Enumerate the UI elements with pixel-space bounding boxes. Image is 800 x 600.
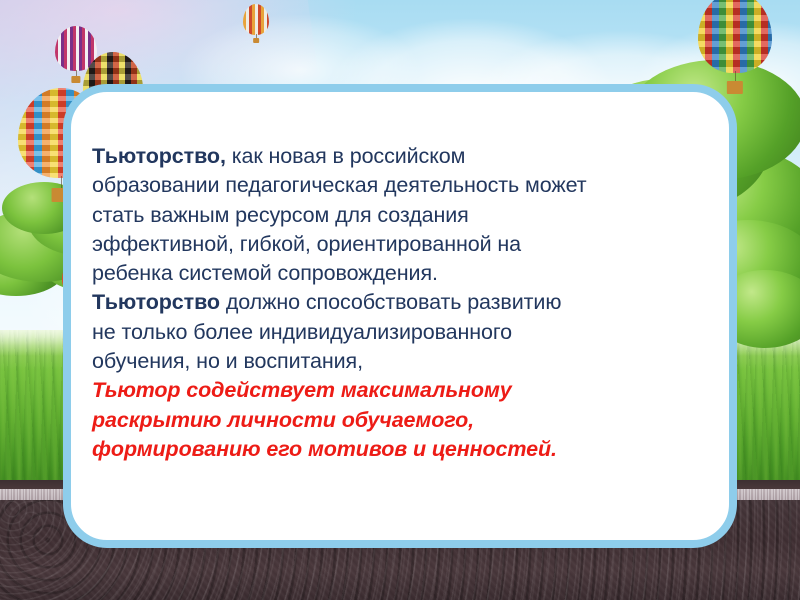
balloon-right-rainbow <box>698 0 772 96</box>
text-line-1: Тьюторство, как новая в российском <box>92 142 711 171</box>
balloon-basket <box>71 76 80 83</box>
balloon-envelope <box>243 4 269 35</box>
balloon-basket <box>727 81 743 93</box>
text-card: Тьюторство, как новая в российском образ… <box>63 84 737 548</box>
text-line-7: не только более индивидуализированного <box>92 318 711 347</box>
text-line-6: Тьюторство должно способствовать развити… <box>92 288 711 317</box>
text-emphasis-tutoring: Тьюторство, <box>92 144 226 168</box>
text-line-4: эффективной, гибкой, ориентированной на <box>92 230 711 259</box>
text-line-2: образовании педагогическая деятельность … <box>92 171 711 200</box>
text-line-8: обучения, но и воспитания, <box>92 347 711 376</box>
text-line-10-highlight: раскрытию личности обучаемого, <box>92 406 711 435</box>
text-line-1-rest: как новая в российском <box>226 144 465 168</box>
text-line-3: стать важным ресурсом для создания <box>92 201 711 230</box>
balloon-small-orange <box>243 4 269 44</box>
text-emphasis-tutoring-2: Тьюторство <box>92 290 220 314</box>
text-line-11-highlight: формированию его мотивов и ценностей. <box>92 435 711 464</box>
text-line-9-highlight: Тьютор содействует максимальному <box>92 376 711 405</box>
slide: Тьюторство, как новая в российском образ… <box>0 0 800 600</box>
text-line-5: ребенка системой сопровождения. <box>92 259 711 288</box>
balloon-envelope <box>698 0 772 73</box>
text-line-6-rest: должно способствовать развитию <box>220 290 561 314</box>
card-body: Тьюторство, как новая в российском образ… <box>92 142 711 464</box>
balloon-basket <box>253 38 259 43</box>
